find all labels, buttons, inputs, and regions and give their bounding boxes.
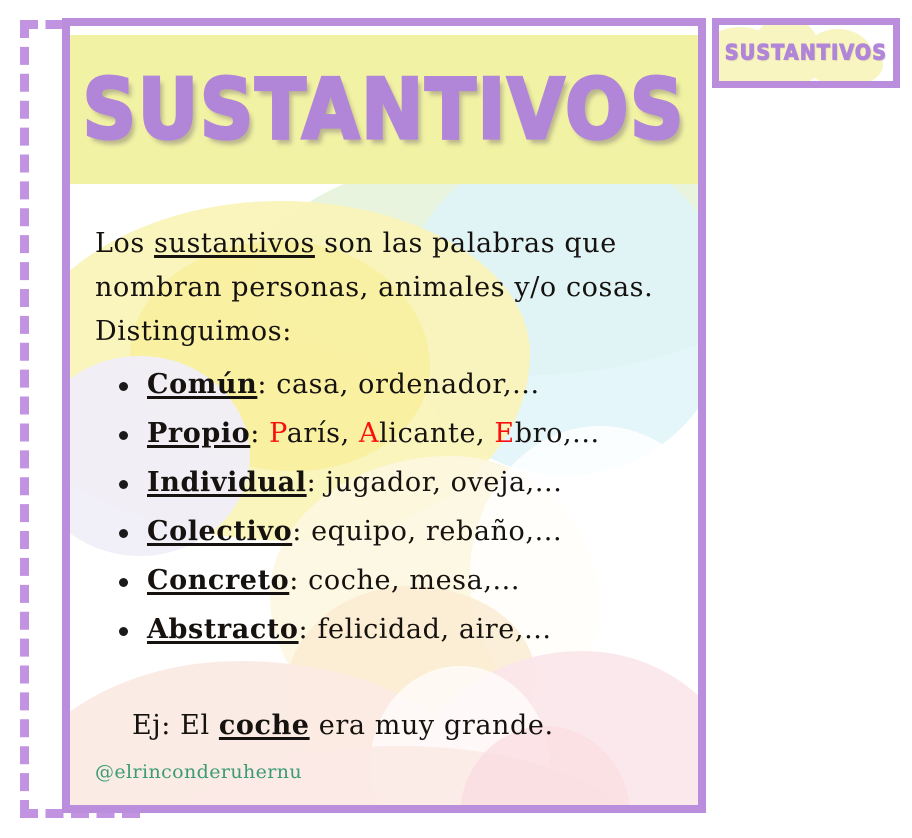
list-item: Colectivo: equipo, rebaño,... [115,507,698,556]
example-keyword: coche [219,710,310,741]
proper-noun-rest: arís, [287,418,359,449]
noun-type-label: Concreto [147,565,289,596]
example-prefix: Ej: El [132,710,219,741]
list-item: Común: casa, ordenador,... [115,360,698,409]
noun-type-label: Propio [147,418,250,449]
noun-type-separator: : [250,418,269,449]
noun-type-examples: jugador, oveja,... [326,467,563,498]
noun-type-separator: : [289,565,308,596]
proper-noun-rest: licante, [379,418,494,449]
definition-suffix: son las palabras que [315,228,617,259]
noun-type-label: Individual [147,467,307,498]
proper-noun-initial: P [269,418,287,449]
noun-type-label: Colectivo [147,516,292,547]
example-suffix: era muy grande. [310,710,554,741]
noun-type-examples: felicidad, aire,... [317,614,551,645]
card-background: SUSTANTIVOS Los sustantivos son las pala… [70,26,698,805]
noun-types-list: Común: casa, ordenador,... Propio: París… [70,360,698,654]
noun-type-separator: : [299,614,318,645]
noun-type-examples: París, Alicante, Ebro,... [269,418,600,449]
noun-type-separator: : [257,369,276,400]
noun-type-examples: casa, ordenador,... [276,369,539,400]
noun-type-separator: : [292,516,311,547]
badge-title: SUSTANTIVOS [725,41,887,65]
proper-noun-initial: E [494,418,514,449]
list-item: Abstracto: felicidad, aire,... [115,605,698,654]
proper-noun-rest: bro,... [515,418,600,449]
noun-type-label: Común [147,369,257,400]
definition-keyword: sustantivos [154,228,315,259]
definition-prefix: Los [95,228,154,259]
lesson-body: Los sustantivos son las palabras que nom… [70,186,698,748]
noun-type-label: Abstracto [147,614,299,645]
list-item: Concreto: coche, mesa,... [115,556,698,605]
noun-lesson-card: SUSTANTIVOS Los sustantivos son las pala… [62,18,706,813]
noun-type-separator: : [307,467,326,498]
example-sentence: Ej: El coche era muy grande. [70,704,698,748]
definition-line-1: Los sustantivos son las palabras que [70,186,698,266]
page-title: SUSTANTIVOS [83,61,686,157]
definition-line-3: Distinguimos: [70,310,698,354]
list-item: Propio: París, Alicante, Ebro,... [115,409,698,458]
proper-noun-initial: A [359,418,379,449]
noun-type-examples: equipo, rebaño,... [311,516,562,547]
title-banner: SUSTANTIVOS [70,35,698,184]
noun-type-examples: coche, mesa,... [308,565,520,596]
author-handle: @elrinconderuhernu [95,761,302,783]
definition-line-2: nombran personas, animales y/o cosas. [70,266,698,310]
topic-badge: SUSTANTIVOS [712,18,900,88]
list-item: Individual: jugador, oveja,... [115,458,698,507]
